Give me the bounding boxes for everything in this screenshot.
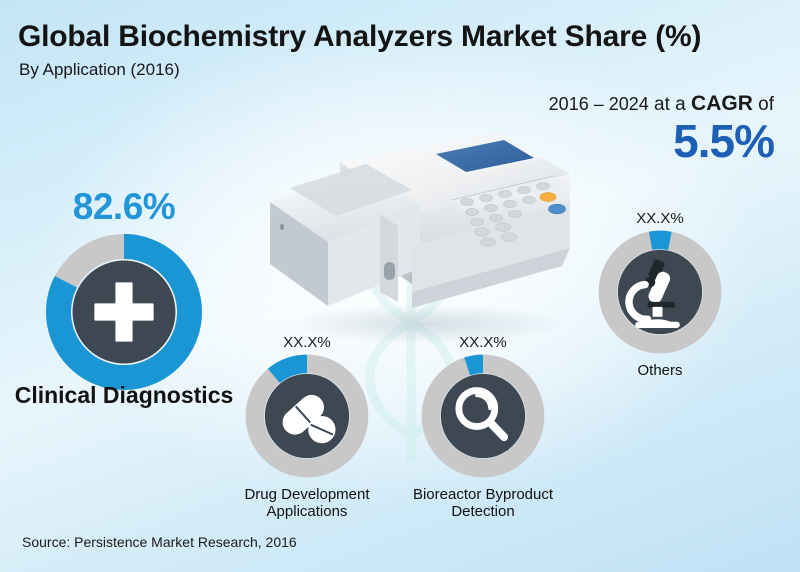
donut-label-clinical-diagnostics: Clinical Diagnostics	[6, 383, 242, 409]
biochemistry-analyzer-device-image	[262, 96, 582, 346]
donut-value-clinical-diagnostics: 82.6%	[46, 186, 202, 228]
donut-ring-clinical-diagnostics	[46, 234, 202, 390]
cagr-label: CAGR	[691, 92, 753, 115]
donut-label-bioreactor-byproduct-detection: Bioreactor Byproduct Detection	[381, 486, 585, 521]
donut-ring-others	[598, 230, 722, 354]
cagr-of-text: of	[753, 94, 774, 115]
source-note: Source: Persistence Market Research, 201…	[22, 534, 297, 550]
page-subtitle: By Application (2016)	[19, 60, 180, 80]
page-title: Global Biochemistry Analyzers Market Sha…	[18, 20, 701, 54]
cagr-at-a-text: at a	[649, 94, 691, 115]
donut-drug-development-applications: XX.X% Drug Development Applications	[245, 334, 369, 534]
donut-ring-drug-development-applications	[245, 354, 369, 478]
donut-value-drug-development-applications: XX.X%	[245, 334, 369, 351]
donut-label-others: Others	[558, 362, 762, 379]
donut-clinical-diagnostics: 82.6% Clinical Diagnostics	[46, 186, 202, 436]
cagr-period-line: 2016 – 2024 at a CAGR of	[549, 92, 774, 116]
donut-label-drug-development-applications: Drug Development Applications	[205, 486, 409, 521]
donut-ring-bioreactor-byproduct-detection	[421, 354, 545, 478]
donut-bioreactor-byproduct-detection: XX.X% Bioreactor Byproduct Detection	[421, 334, 545, 534]
donut-value-bioreactor-byproduct-detection: XX.X%	[421, 334, 545, 351]
donut-others: XX.X% Others	[598, 210, 722, 410]
infographic-canvas: Global Biochemistry Analyzers Market Sha…	[0, 0, 800, 572]
cagr-value: 5.5%	[673, 118, 774, 164]
donut-value-others: XX.X%	[598, 210, 722, 227]
